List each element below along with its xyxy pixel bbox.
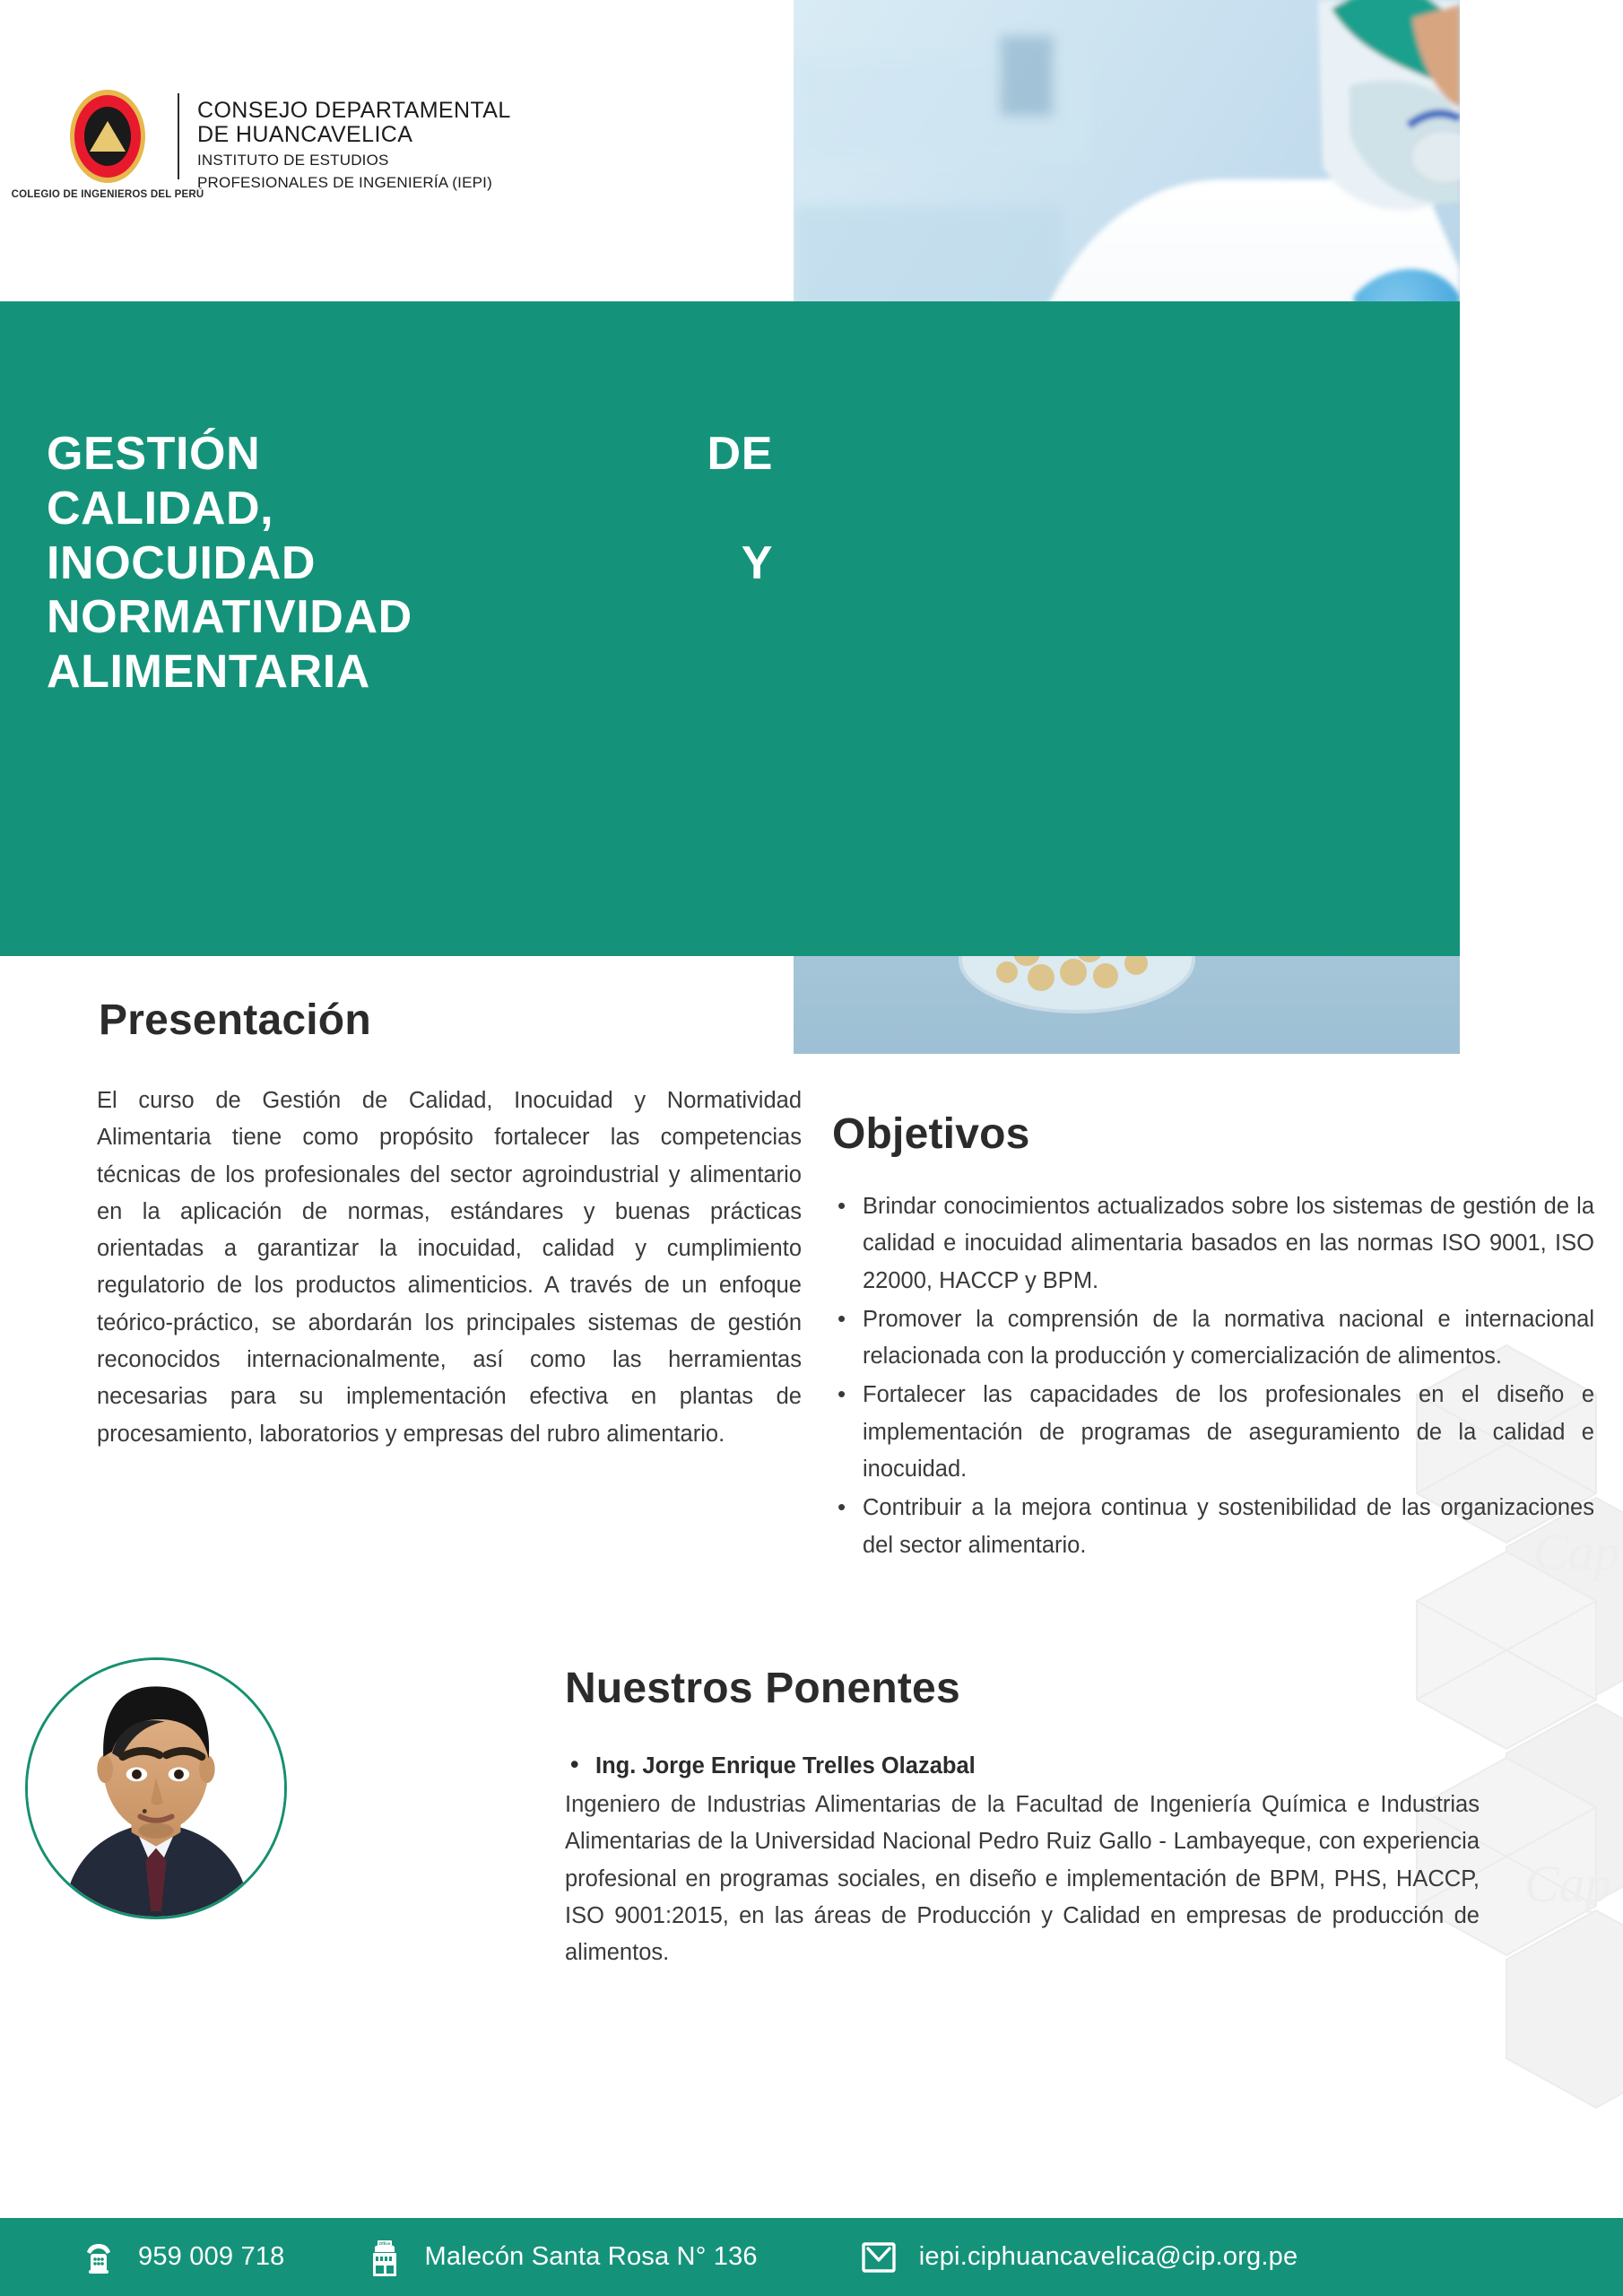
ponentes-heading: Nuestros Ponentes	[565, 1664, 960, 1713]
phone-number: 959 009 718	[138, 2242, 284, 2272]
title-line-4: NORMATIVIDAD	[47, 590, 773, 645]
presentacion-body: El curso de Gestión de Calidad, Inocuida…	[97, 1083, 802, 1453]
organization-name: CONSEJO DEPARTAMENTAL DE HUANCAVELICA IN…	[197, 99, 511, 190]
org-line-1: CONSEJO DEPARTAMENTAL	[197, 99, 511, 123]
address-text: Malecón Santa Rosa N° 136	[424, 2242, 757, 2272]
objetivos-heading: Objetivos	[832, 1109, 1030, 1159]
title-line-1: GESTIÓN DE	[47, 427, 773, 482]
org-line-4: PROFESIONALES DE INGENIERÍA (IEPI)	[197, 174, 511, 191]
list-item: Fortalecer las capacidades de los profes…	[832, 1377, 1594, 1488]
crest-wrap: COLEGIO DE INGENIEROS DEL PERÚ	[50, 90, 165, 200]
header: COLEGIO DE INGENIEROS DEL PERÚ CONSEJO D…	[0, 0, 794, 301]
flyer-page: GESTIÓN DE CALIDAD, INOCUIDAD Y NORMATIV…	[0, 0, 1623, 2296]
org-line-3: INSTITUTO DE ESTUDIOS	[197, 152, 511, 169]
title-line-2: CALIDAD,	[47, 482, 773, 536]
speaker-portrait-photo	[28, 1660, 284, 1917]
email-address: iepi.ciphuancavelica@cip.org.pe	[919, 2242, 1298, 2272]
contact-address[interactable]: Office Malecón Santa Rosa N° 136	[365, 2236, 757, 2279]
logo-caption: COLEGIO DE INGENIEROS DEL PERÚ	[12, 189, 204, 200]
footer-contact-bar: 959 009 718 Office Malecón Santa Rosa N°…	[0, 2218, 1623, 2296]
organization-logo: COLEGIO DE INGENIEROS DEL PERÚ CONSEJO D…	[50, 90, 511, 200]
objetivos-list: Brindar conocimientos actualizados sobre…	[832, 1188, 1594, 1566]
avatar	[25, 1657, 287, 1919]
page-title: GESTIÓN DE CALIDAD, INOCUIDAD Y NORMATIV…	[47, 427, 773, 700]
office-building-icon: Office	[365, 2236, 404, 2279]
contact-phone[interactable]: 959 009 718	[79, 2238, 284, 2277]
list-item: Contribuir a la mejora continua y sosten…	[832, 1490, 1594, 1564]
title-line-5: ALIMENTARIA	[47, 645, 773, 700]
presentacion-heading: Presentación	[99, 996, 371, 1045]
svg-text:Office: Office	[379, 2241, 391, 2246]
envelope-icon	[858, 2239, 899, 2275]
org-line-2: DE HUANCAVELICA	[197, 123, 511, 147]
ponente-bio: Ingeniero de Industrias Alimentarias de …	[565, 1787, 1480, 1971]
svg-text:Cap: Cap	[1524, 1855, 1611, 1913]
list-item: Promover la comprensión de la normativa …	[832, 1301, 1594, 1376]
contact-email[interactable]: iepi.ciphuancavelica@cip.org.pe	[858, 2239, 1298, 2275]
list-item: Brindar conocimientos actualizados sobre…	[832, 1188, 1594, 1300]
logo-divider	[178, 93, 179, 179]
telephone-icon	[79, 2238, 118, 2277]
title-line-3: INOCUIDAD Y	[47, 536, 773, 591]
ponente-name: Ing. Jorge Enrique Trelles Olazabal	[565, 1753, 1480, 1779]
cip-crest-icon	[70, 90, 145, 183]
